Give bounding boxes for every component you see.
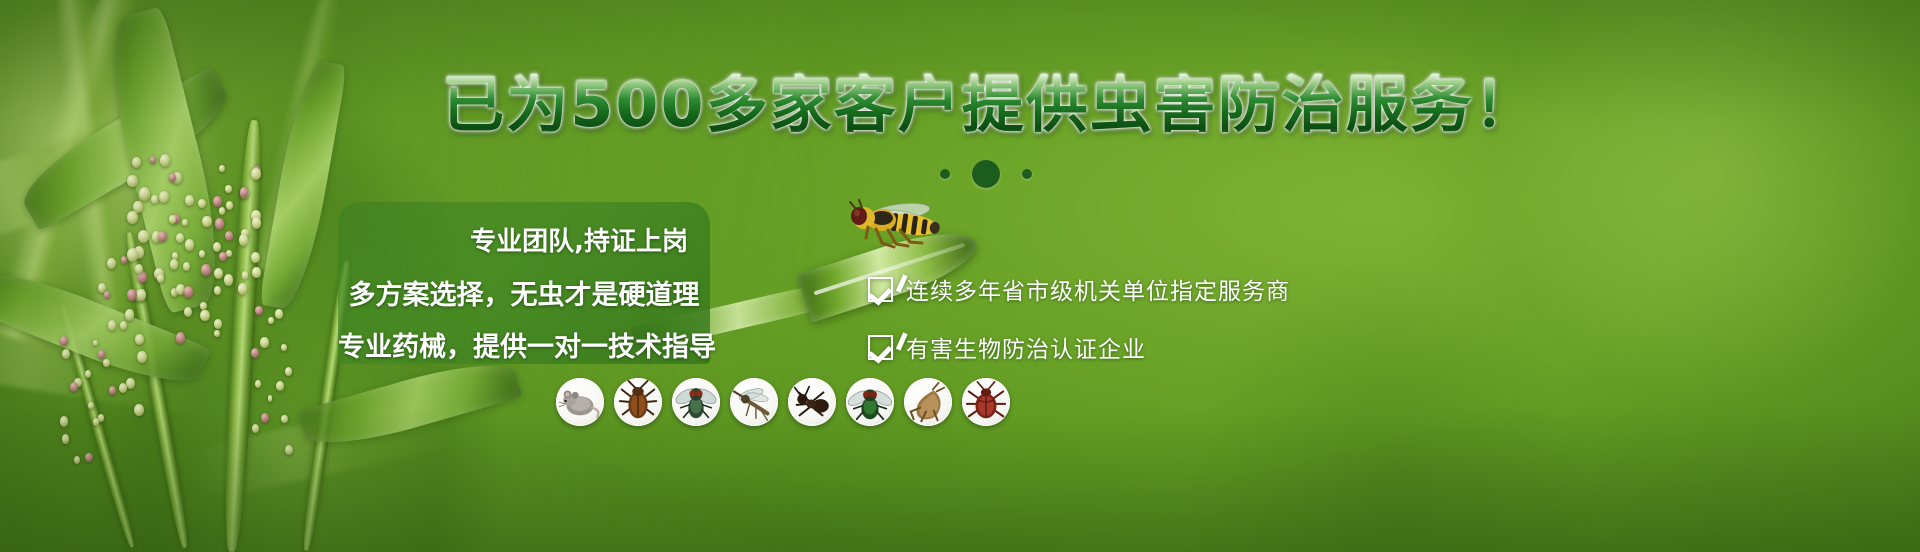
flea-icon[interactable] bbox=[904, 378, 952, 426]
checklist-item: 有害生物防治认证企业 bbox=[868, 330, 1388, 364]
pest-control-hero-banner: 已为500多家客户提供虫害防治服务！ 已为500多家客户提供虫害防治服务！ 专业… bbox=[0, 0, 1920, 552]
headline-row: 已为500多家客户提供虫害防治服务！ 已为500多家客户提供虫害防治服务！ bbox=[0, 74, 1920, 136]
decor-dot-small-left bbox=[940, 169, 950, 179]
decor-dot-large-center bbox=[972, 160, 1000, 188]
mosquito-icon[interactable] bbox=[730, 378, 778, 426]
checklist-item: 连续多年省市级机关单位指定服务商 bbox=[868, 272, 1388, 306]
fly-icon[interactable] bbox=[672, 378, 720, 426]
ant-icon[interactable] bbox=[788, 378, 836, 426]
pest-icon-strip bbox=[556, 378, 1010, 426]
feature-line-3: 专业药械，提供一对一技术指导 bbox=[338, 334, 710, 361]
checklist-item-label: 有害生物防治认证企业 bbox=[906, 330, 1146, 364]
feature-line-1: 专业团队,持证上岗 bbox=[338, 229, 710, 255]
rat-icon[interactable] bbox=[556, 378, 604, 426]
certification-checklist: 连续多年省市级机关单位指定服务商 有害生物防治认证企业 bbox=[868, 272, 1388, 388]
checklist-item-label: 连续多年省市级机关单位指定服务商 bbox=[906, 272, 1290, 306]
decorative-dot-row bbox=[0, 160, 1920, 188]
blowfly-icon[interactable] bbox=[846, 378, 894, 426]
decor-dot-small-right bbox=[1022, 169, 1032, 179]
bedbug-icon[interactable] bbox=[962, 378, 1010, 426]
check-box-icon bbox=[868, 277, 893, 302]
check-box-icon bbox=[868, 335, 893, 360]
cockroach-icon[interactable] bbox=[614, 378, 662, 426]
feature-line-2: 多方案选择，无虫才是硬道理 bbox=[338, 282, 710, 309]
feature-highlight-box: 专业团队,持证上岗 多方案选择，无虫才是硬道理 专业药械，提供一对一技术指导 bbox=[338, 202, 710, 364]
page-title: 已为500多家客户提供虫害防治服务！ bbox=[442, 74, 1537, 136]
